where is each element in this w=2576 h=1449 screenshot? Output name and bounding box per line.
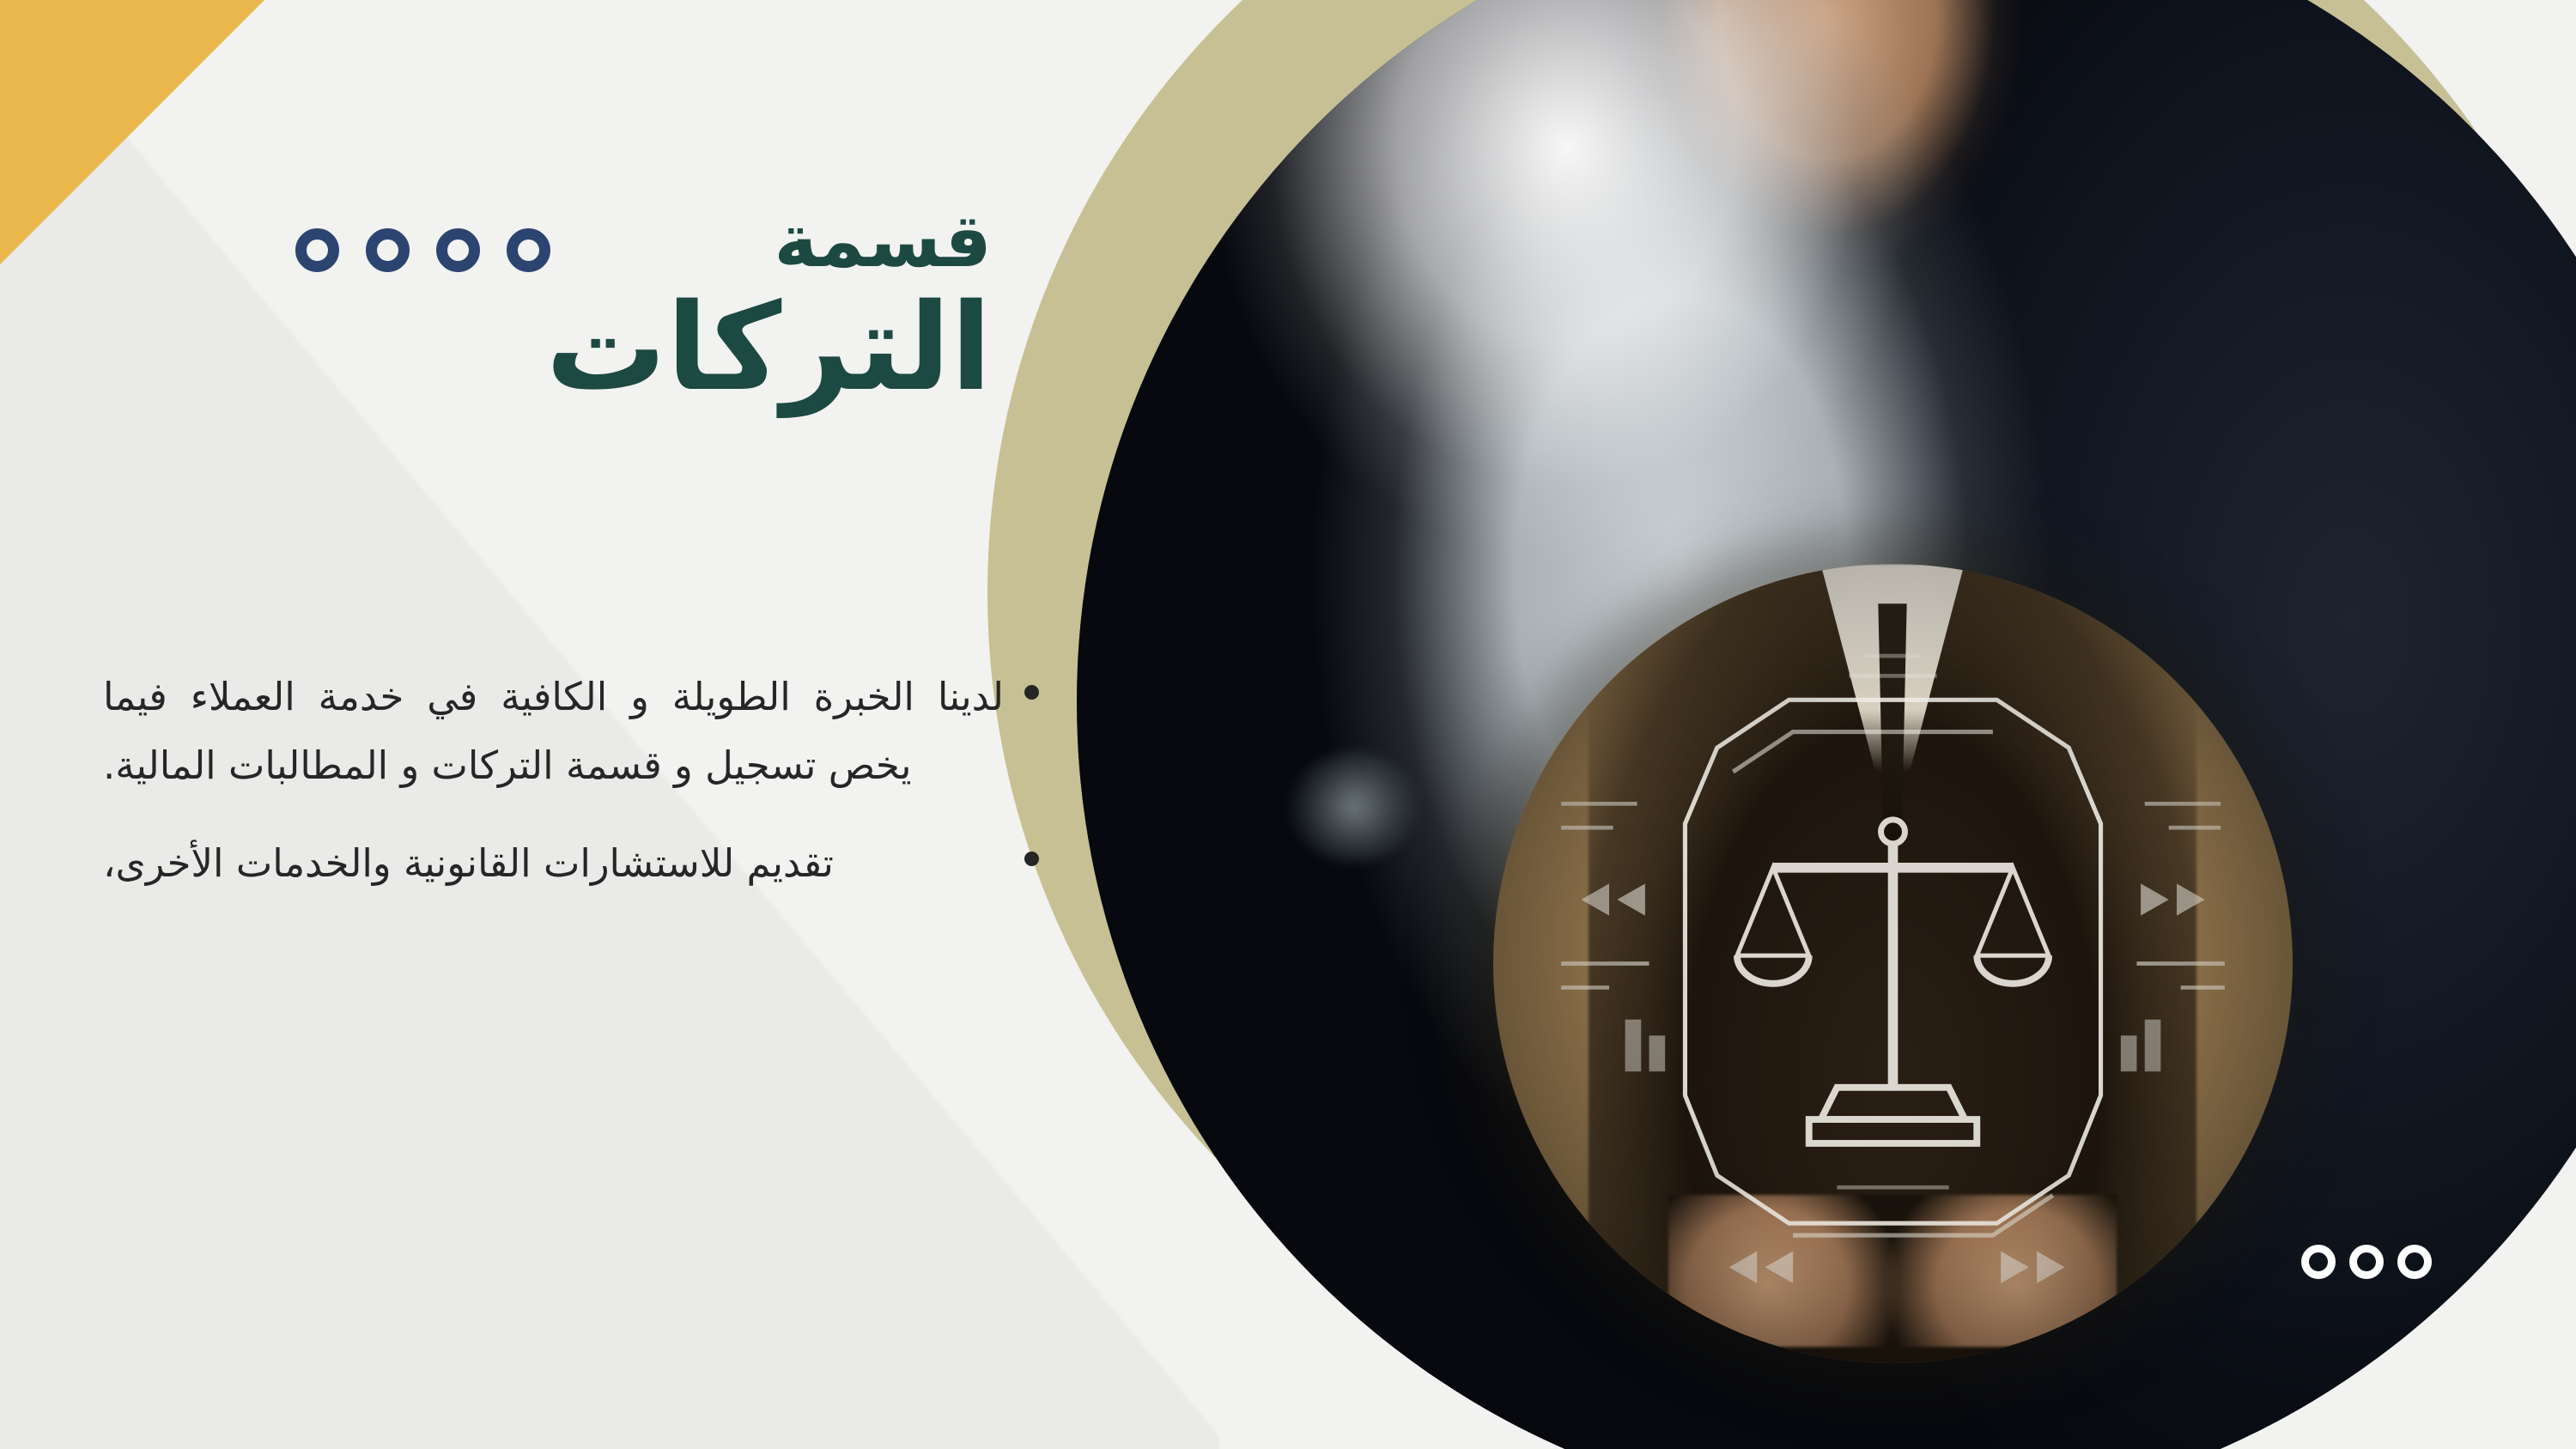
page-title-line-2: التركات — [546, 285, 992, 411]
bullet-dot-icon — [1024, 852, 1039, 866]
circle-outline-icon — [2397, 1245, 2432, 1279]
photo-circle-mask — [1077, 0, 2576, 1449]
navy-ring-decoration-group — [295, 228, 550, 272]
circle-outline-icon — [436, 228, 480, 272]
list-item: لدينا الخبرة الطويلة و الكافية في خدمة ا… — [103, 663, 1039, 800]
photo-composition — [987, 0, 2576, 1449]
page-title-line-1: قسمة — [546, 204, 992, 278]
necktie-shape — [1870, 603, 1915, 843]
gold-triangle-shape — [0, 0, 264, 264]
circle-outline-icon — [366, 228, 410, 272]
circle-outline-icon — [507, 228, 550, 272]
hands-holding-tablet — [1668, 1195, 2116, 1347]
bullet-text: لدينا الخبرة الطويلة و الكافية في خدمة ا… — [103, 663, 1004, 800]
presentation-slide: قسمة التركات لدينا الخبرة الطويلة و الكا… — [0, 0, 2576, 1449]
hud-overlay — [1493, 564, 2293, 1363]
white-ring-decoration-group — [2301, 1245, 2432, 1279]
circle-outline-icon — [295, 228, 339, 272]
bullet-dot-icon — [1024, 685, 1039, 700]
bullet-list: لدينا الخبرة الطويلة و الكافية في خدمة ا… — [103, 663, 1039, 927]
circle-outline-icon — [2349, 1245, 2384, 1279]
photo-light-blur — [1289, 751, 1418, 863]
list-item: تقديم للاستشارات القانونية والخدمات الأخ… — [103, 829, 1039, 898]
suited-figure-silhouette — [1589, 564, 2196, 1363]
bullet-text: تقديم للاستشارات القانونية والخدمات الأخ… — [103, 829, 1004, 898]
lawyer-inset-photo — [1493, 564, 2293, 1363]
scales-of-justice-icon — [1493, 564, 2293, 1363]
slide-title-block: قسمة التركات — [546, 204, 992, 411]
dress-shirt-shape — [1820, 564, 1965, 772]
circle-outline-icon — [2301, 1245, 2336, 1279]
